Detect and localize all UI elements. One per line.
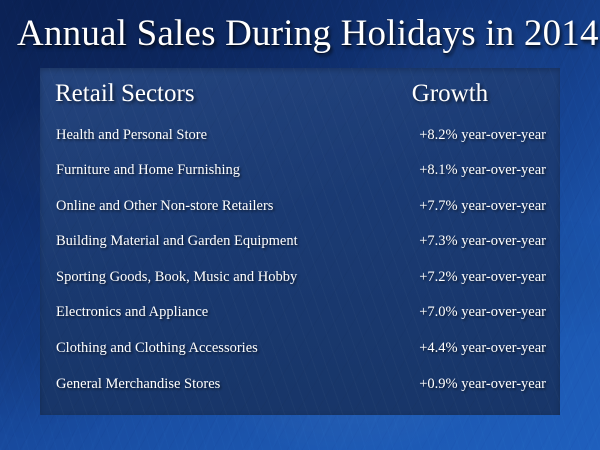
cell-retail-sector: Sporting Goods, Book, Music and Hobby	[56, 268, 297, 286]
cell-retail-sector: Clothing and Clothing Accessories	[56, 339, 258, 357]
cell-retail-sector: Furniture and Home Furnishing	[56, 161, 240, 179]
table-row: Furniture and Home Furnishing +8.1% year…	[0, 161, 600, 196]
presentation-slide: Annual Sales During Holidays in 2014 Ret…	[0, 0, 600, 450]
table-row: Clothing and Clothing Accessories +4.4% …	[0, 339, 600, 374]
cell-retail-sector: Electronics and Appliance	[56, 303, 208, 321]
cell-retail-sector: Building Material and Garden Equipment	[56, 232, 298, 250]
column-header-retail-sectors: Retail Sectors	[55, 80, 195, 108]
cell-growth-value: +7.7% year-over-year	[380, 197, 546, 215]
table-row: Online and Other Non-store Retailers +7.…	[0, 197, 600, 232]
table-row: Electronics and Appliance +7.0% year-ove…	[0, 303, 600, 338]
table-row: Sporting Goods, Book, Music and Hobby +7…	[0, 268, 600, 303]
cell-growth-value: +8.2% year-over-year	[380, 126, 546, 144]
cell-growth-value: +7.0% year-over-year	[380, 303, 546, 321]
cell-growth-value: +0.9% year-over-year	[380, 375, 546, 393]
cell-retail-sector: Health and Personal Store	[56, 126, 207, 144]
cell-growth-value: +8.1% year-over-year	[380, 161, 546, 179]
cell-growth-value: +7.3% year-over-year	[380, 232, 546, 250]
cell-retail-sector: General Merchandise Stores	[56, 375, 220, 393]
slide-title: Annual Sales During Holidays in 2014	[17, 13, 599, 55]
cell-growth-value: +4.4% year-over-year	[380, 339, 546, 357]
table-row: General Merchandise Stores +0.9% year-ov…	[0, 375, 600, 410]
cell-retail-sector: Online and Other Non-store Retailers	[56, 197, 273, 215]
column-header-growth: Growth	[380, 80, 520, 108]
table-row: Building Material and Garden Equipment +…	[0, 232, 600, 267]
cell-growth-value: +7.2% year-over-year	[380, 268, 546, 286]
table-row: Health and Personal Store +8.2% year-ove…	[0, 126, 600, 161]
